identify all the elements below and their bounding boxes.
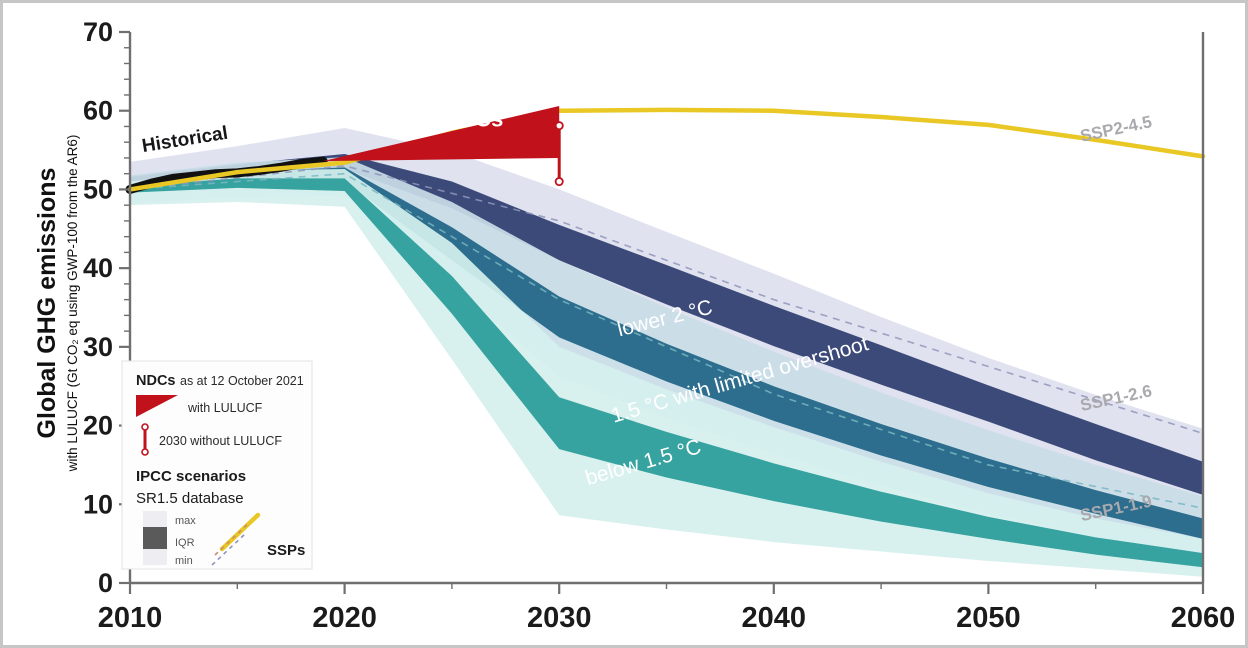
y-tick-label: 50	[83, 174, 113, 204]
y-axis-title-main: Global GHG emissions	[33, 168, 61, 439]
x-tick-label: 2050	[956, 602, 1021, 634]
legend-swatch-iqr	[143, 527, 167, 549]
y-tick-label: 30	[83, 332, 113, 362]
legend-ipcc-heading: IPCC scenarios	[136, 468, 246, 485]
x-tick-label: 2060	[1171, 602, 1236, 634]
chart-legend: NDCs as at 12 October 2021 with LULUCF 2…	[122, 361, 312, 569]
x-tick-label: 2020	[312, 602, 377, 634]
legend-iqr-label: IQR	[175, 537, 195, 549]
legend-swatch-min	[143, 549, 167, 565]
legend-max-label: max	[175, 515, 196, 527]
y-tick-label: 40	[83, 253, 113, 283]
legend-ndc-heading: NDCs	[136, 373, 175, 389]
legend-ssp-label: SSPs	[267, 542, 305, 559]
legend-ndc-date: as at 12 October 2021	[180, 374, 304, 388]
x-tick-label: 2010	[98, 602, 163, 634]
y-tick-label: 70	[83, 17, 113, 47]
legend-min-label: min	[175, 555, 193, 567]
legend-ndc-wedge-label: with LULUCF	[187, 401, 263, 415]
legend-database-label: SR1.5 database	[136, 490, 244, 507]
y-axis-title-group: Global GHG emissions with LULUCF (Gt CO₂…	[33, 135, 80, 473]
legend-ndc-marker-label: 2030 without LULUCF	[159, 434, 282, 448]
y-tick-label: 20	[83, 411, 113, 441]
y-axis-title-sub: with LULUCF (Gt CO₂ eq using GWP-100 fro…	[65, 135, 80, 473]
y-tick-label: 10	[83, 489, 113, 519]
chart-frame: 010203040506070201020202030204020502060 …	[0, 0, 1248, 648]
x-tick-label: 2030	[527, 602, 592, 634]
annotation-label: NDCs	[443, 106, 503, 131]
y-tick-label: 0	[98, 568, 113, 598]
legend-swatch-max	[143, 511, 167, 527]
x-tick-label: 2040	[742, 602, 807, 634]
ghg-emissions-chart: 010203040506070201020202030204020502060 …	[3, 3, 1245, 645]
y-tick-label: 60	[83, 96, 113, 126]
